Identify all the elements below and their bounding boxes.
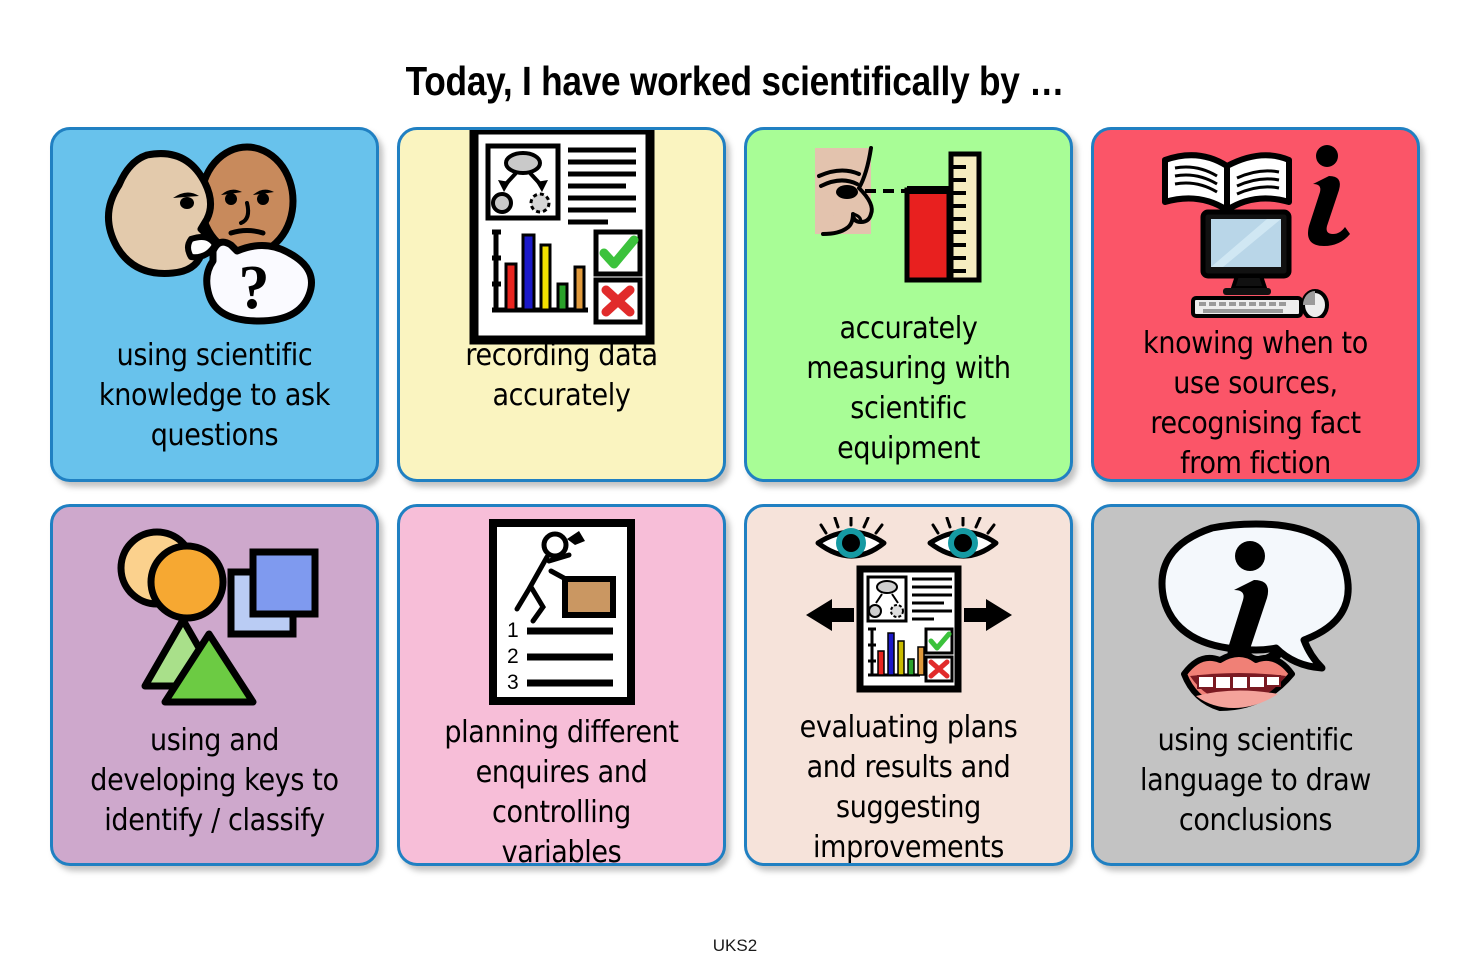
- card-label: using and developing keys to identify / …: [78, 721, 351, 841]
- card-label-line: language to draw: [1119, 761, 1392, 801]
- eye-ruler-measuring-icon: [809, 142, 1009, 302]
- footer-key-stage: UKS2: [0, 936, 1470, 956]
- card-planning-different-enquires[interactable]: 1 2 3 planning different enquires and co…: [397, 504, 726, 866]
- card-label: evaluating plans and results and suggest…: [772, 708, 1045, 866]
- results-document-chart-icon: [468, 127, 656, 346]
- shapes-sorting-classify-icon: [105, 526, 325, 706]
- card-label-line: equipment: [772, 429, 1045, 469]
- card-label-line: measuring with: [772, 349, 1045, 389]
- svg-text:3: 3: [507, 671, 519, 694]
- card-label-line: scientific: [772, 389, 1045, 429]
- card-label-line: enquires and: [425, 753, 698, 793]
- card-label-line: and results and: [772, 748, 1045, 788]
- card-label-line: using and: [78, 721, 351, 761]
- card-label: knowing when to use sources, recognising…: [1119, 324, 1392, 482]
- card-label-line: evaluating plans: [772, 708, 1045, 748]
- card-label-line: use sources,: [1119, 364, 1392, 404]
- card-accurately-measuring-with-scientific-equipment[interactable]: accurately measuring with scientific equ…: [744, 127, 1073, 482]
- card-label-line: from fiction: [1119, 444, 1392, 482]
- svg-text:1: 1: [507, 619, 519, 642]
- card-art: [63, 517, 366, 715]
- card-knowing-when-to-use-sources[interactable]: knowing when to use sources, recognising…: [1091, 127, 1420, 482]
- card-using-scientific-knowledge-to-ask-questions[interactable]: ? using scientific knowledge to ask ques…: [50, 127, 379, 482]
- eyes-arrows-document-evaluate-icon: [794, 517, 1024, 702]
- page-title: Today, I have worked scientifically by …: [406, 58, 1065, 105]
- card-art: ?: [63, 140, 366, 330]
- card-label-line: recording data: [425, 336, 698, 376]
- card-label: recording data accurately: [425, 336, 698, 416]
- card-label-line: improvements: [772, 828, 1045, 866]
- card-label-line: accurately: [425, 376, 698, 416]
- card-label-line: conclusions: [1119, 801, 1392, 841]
- poster-root: Today, I have worked scientifically by …: [0, 0, 1470, 974]
- card-label: accurately measuring with scientific equ…: [772, 309, 1045, 469]
- card-label-line: knowledge to ask: [78, 376, 351, 416]
- card-art: [757, 140, 1060, 303]
- card-label-line: identify / classify: [78, 801, 351, 841]
- card-label-line: using scientific: [1119, 721, 1392, 761]
- book-computer-information-icon: [1151, 140, 1361, 318]
- card-label-line: variables: [425, 833, 698, 866]
- card-evaluating-plans-and-results[interactable]: evaluating plans and results and suggest…: [744, 504, 1073, 866]
- card-using-and-developing-keys[interactable]: using and developing keys to identify / …: [50, 504, 379, 866]
- card-label: using scientific language to draw conclu…: [1119, 721, 1392, 841]
- two-faces-speech-bubble-question-icon: ?: [95, 143, 335, 328]
- card-art: [410, 140, 713, 330]
- card-label-line: suggesting: [772, 788, 1045, 828]
- card-label-line: recognising fact: [1119, 404, 1392, 444]
- card-label: using scientific knowledge to ask questi…: [78, 336, 351, 456]
- card-art: 1 2 3: [410, 517, 713, 707]
- cards-grid: ? using scientific knowledge to ask ques…: [40, 127, 1430, 866]
- card-label-line: knowing when to: [1119, 324, 1392, 364]
- card-art: [1104, 517, 1407, 715]
- card-art: [1104, 140, 1407, 318]
- card-label-line: questions: [78, 416, 351, 456]
- mouth-speech-bubble-information-icon: [1146, 518, 1366, 714]
- svg-text:2: 2: [507, 645, 519, 668]
- card-label-line: controlling: [425, 793, 698, 833]
- card-label-line: planning different: [425, 713, 698, 753]
- card-label: planning different enquires and controll…: [425, 713, 698, 866]
- card-recording-data-accurately[interactable]: recording data accurately: [397, 127, 726, 482]
- card-label-line: accurately: [772, 309, 1045, 349]
- card-label-line: developing keys to: [78, 761, 351, 801]
- card-label-line: using scientific: [78, 336, 351, 376]
- svg-text:?: ?: [238, 254, 269, 322]
- plan-document-numbered-list-icon: 1 2 3: [487, 517, 637, 707]
- card-art: [757, 517, 1060, 702]
- card-using-scientific-language-to-draw-conclusions[interactable]: using scientific language to draw conclu…: [1091, 504, 1420, 866]
